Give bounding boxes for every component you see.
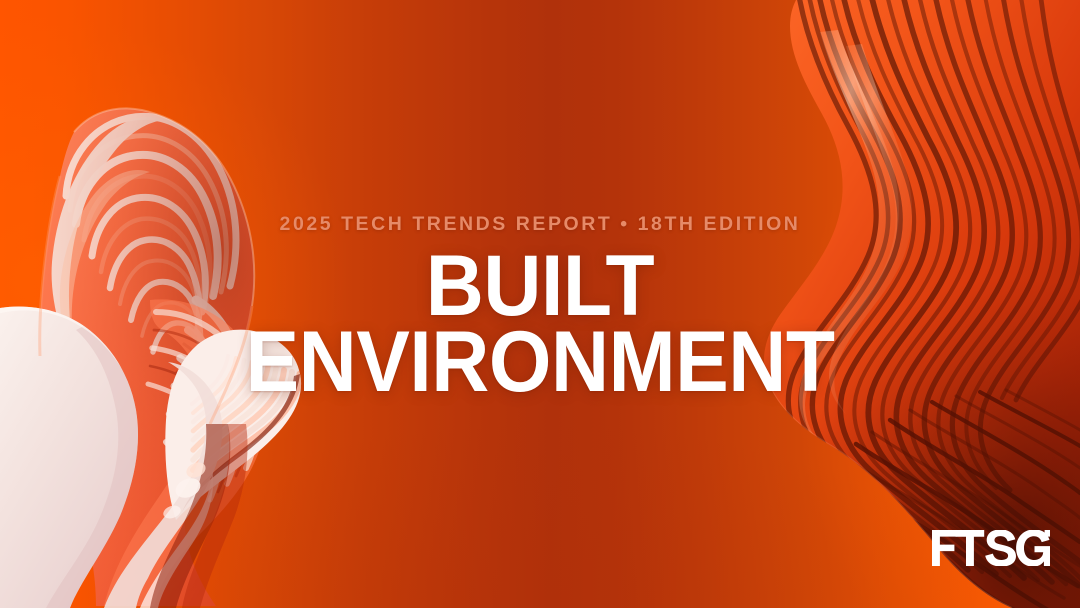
page-title-line-1: BUILT <box>35 248 1045 324</box>
ftsg-logo[interactable] <box>932 530 1050 566</box>
page-title-line-2: ENVIRONMENT <box>35 324 1045 400</box>
ftsg-logo-mark <box>932 530 1050 566</box>
page-title: BUILT ENVIRONMENT <box>0 248 1080 400</box>
report-eyebrow: 2025 TECH TRENDS REPORT • 18TH EDITION <box>0 213 1080 236</box>
report-cover-hero: 2025 TECH TRENDS REPORT • 18TH EDITION B… <box>0 0 1080 608</box>
